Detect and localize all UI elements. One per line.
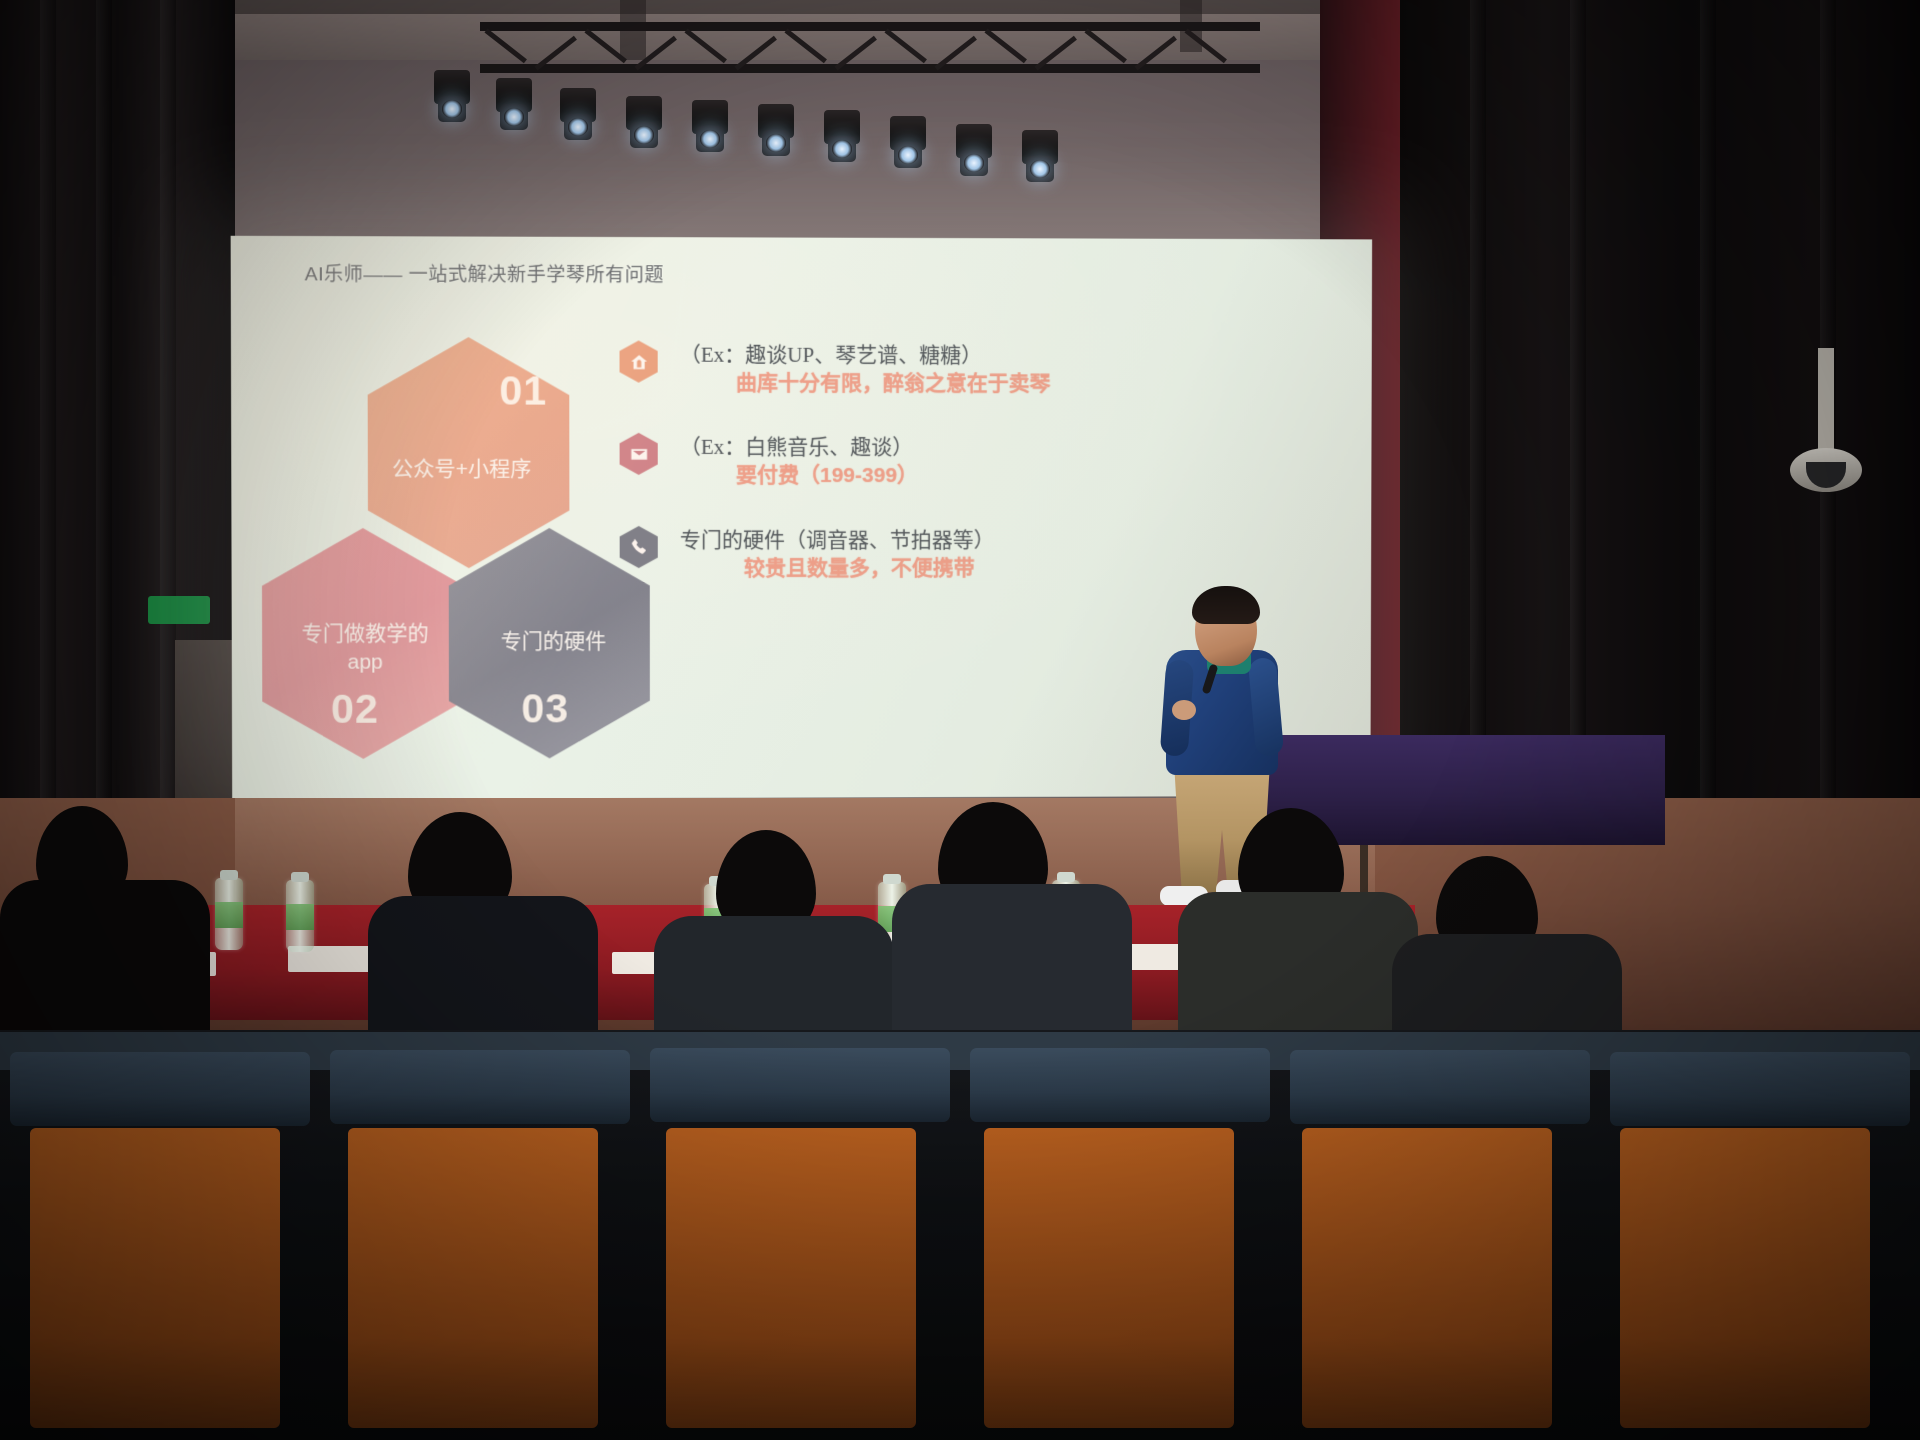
camera-pole [1818,348,1834,456]
bullet-2-line1: （Ex：白熊音乐、趣谈） [680,433,918,462]
chair-seat [666,1128,916,1428]
stage-light [622,96,666,154]
chair-seat [348,1128,598,1428]
water-bottle [286,880,314,952]
mail-icon [620,433,658,475]
bullet-row-3: 专门的硬件（调音器、节拍器等） 较贵且数量多，不便携带 [620,526,995,584]
stage-light [754,104,798,162]
exit-sign-icon [148,596,210,624]
presenter-hand [1172,700,1196,720]
stage-light [1018,130,1062,188]
chair-back [1610,1052,1910,1126]
stage-light [886,116,930,174]
hexagon-03-number: 03 [521,685,569,732]
slide-title: AI乐师—— 一站式解决新手学琴所有问题 [305,259,664,287]
bullet-3-line2: 较贵且数量多，不便携带 [680,554,995,584]
bullet-2-line2: 要付费（199-399） [680,461,918,491]
chair-back [970,1048,1270,1122]
bullet-1-line2: 曲库十分有限，醉翁之意在于卖琴 [680,369,1051,399]
stage-light [492,78,536,136]
hexagon-02: 02 专门做教学的app [262,528,464,759]
hexagon-01-label: 公众号+小程序 [392,456,548,484]
water-bottle [215,878,243,950]
stage-light [820,110,864,168]
bullet-1-line1: （Ex：趣谈UP、琴艺谱、糖糖） [680,341,1051,370]
lighting-truss [480,8,1260,94]
stage-light [952,124,996,182]
stage-light [688,100,732,158]
phone-icon [620,526,658,568]
bullet-row-1: （Ex：趣谈UP、琴艺谱、糖糖） 曲库十分有限，醉翁之意在于卖琴 [620,340,1051,399]
hexagon-01-number: 01 [499,367,547,414]
chair-back [10,1052,310,1126]
stage-light [556,88,600,146]
home-icon [620,340,658,382]
chair-seat [1302,1128,1552,1428]
chair-back [1290,1050,1590,1124]
hexagon-02-number: 02 [331,686,379,733]
stage-light [430,70,474,128]
chair-back [330,1050,630,1124]
hexagon-01: 01 公众号+小程序 [368,337,570,568]
hexagon-02-label: 专门做教学的app [284,620,446,676]
chair-seat [30,1128,280,1428]
chair-back [650,1048,950,1122]
chair-seat [1620,1128,1870,1428]
photo-scene: AI乐师—— 一站式解决新手学琴所有问题 01 公众号+小程序 02 专门做教学… [0,0,1920,1440]
bullet-3-line1: 专门的硬件（调音器、节拍器等） [680,526,995,554]
chair-seat [984,1128,1234,1428]
bullet-row-2: （Ex：白熊音乐、趣谈） 要付费（199-399） [620,433,918,491]
hexagon-03-label: 专门的硬件 [473,628,634,656]
